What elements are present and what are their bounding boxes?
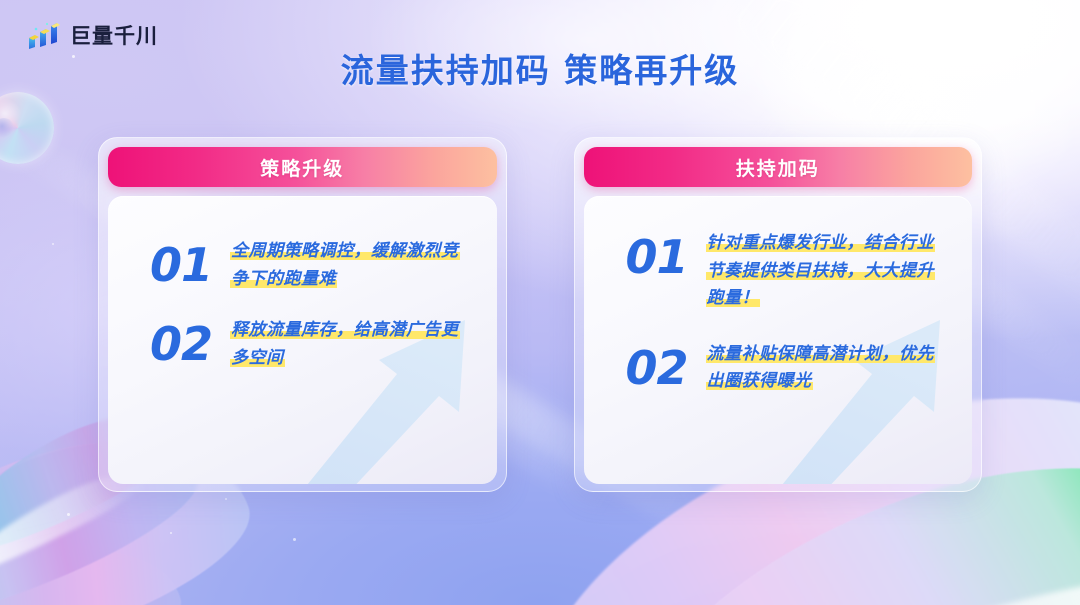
- sparkle-dot: [905, 92, 908, 95]
- card-header-label: 扶持加码: [736, 154, 820, 181]
- item-list: 01 针对重点爆发行业，结合行业节奏提供类目扶持，大大提升跑量！ 02 流量补贴…: [584, 196, 973, 396]
- card-strategy-upgrade: 策略升级 01 全周期策略调控，缓解激烈竞争下的跑量难: [98, 137, 507, 492]
- item-number: 02: [626, 341, 688, 391]
- item-text-highlight: 释放流量库存，给高潜广告更多空间: [230, 320, 460, 368]
- list-item: 02 释放流量库存，给高潜广告更多空间: [150, 317, 473, 372]
- card-group: 策略升级 01 全周期策略调控，缓解激烈竞争下的跑量难: [98, 137, 982, 492]
- ribbon-right-highlight: [644, 550, 1080, 605]
- sparkle-dot: [52, 243, 54, 245]
- list-item: 02 流量补贴保障高潜计划，优先出圈获得曝光: [626, 341, 949, 396]
- item-text: 释放流量库存，给高潜广告更多空间: [230, 317, 472, 372]
- card-body-strategy-upgrade: 01 全周期策略调控，缓解激烈竞争下的跑量难 02 释放流量库存，给高潜广告更多…: [108, 196, 497, 484]
- sparkle-dot: [170, 532, 172, 534]
- page-title: 流量扶持加码 策略再升级: [0, 44, 1080, 92]
- list-item: 01 针对重点爆发行业，结合行业节奏提供类目扶持，大大提升跑量！: [626, 230, 949, 313]
- sparkle-dot: [293, 538, 296, 541]
- item-text-highlight: 流量补贴保障高潜计划，优先出圈获得曝光: [706, 344, 936, 392]
- item-list: 01 全周期策略调控，缓解激烈竞争下的跑量难 02 释放流量库存，给高潜广告更多…: [108, 196, 497, 372]
- card-body-support-boost: 01 针对重点爆发行业，结合行业节奏提供类目扶持，大大提升跑量！ 02 流量补贴…: [584, 196, 973, 484]
- list-item: 01 全周期策略调控，缓解激烈竞争下的跑量难: [150, 238, 473, 293]
- sparkle-dot: [225, 498, 227, 500]
- item-text-highlight: 全周期策略调控，缓解激烈竞争下的跑量难: [230, 241, 460, 289]
- slide-canvas: 巨量千川 流量扶持加码 策略再升级 策略升级: [0, 0, 1080, 605]
- card-support-boost: 扶持加码 01 针对重点爆发行业，结合行业节奏提供类目扶持，大大提升跑: [574, 137, 983, 492]
- card-header-strategy-upgrade: 策略升级: [108, 147, 497, 187]
- item-number: 01: [626, 230, 688, 280]
- item-text: 针对重点爆发行业，结合行业节奏提供类目扶持，大大提升跑量！: [706, 230, 948, 313]
- item-number: 02: [150, 317, 212, 367]
- item-text: 全周期策略调控，缓解激烈竞争下的跑量难: [230, 238, 472, 293]
- card-header-label: 策略升级: [260, 154, 344, 181]
- bubble-decoration: [0, 92, 54, 164]
- item-text-highlight: 针对重点爆发行业，结合行业节奏提供类目扶持，大大提升跑量！: [706, 233, 936, 308]
- item-number: 01: [150, 238, 212, 288]
- ribbon-left-back: [0, 520, 190, 605]
- sparkle-dot: [67, 513, 70, 516]
- item-text: 流量补贴保障高潜计划，优先出圈获得曝光: [706, 341, 948, 396]
- card-header-support-boost: 扶持加码: [584, 147, 973, 187]
